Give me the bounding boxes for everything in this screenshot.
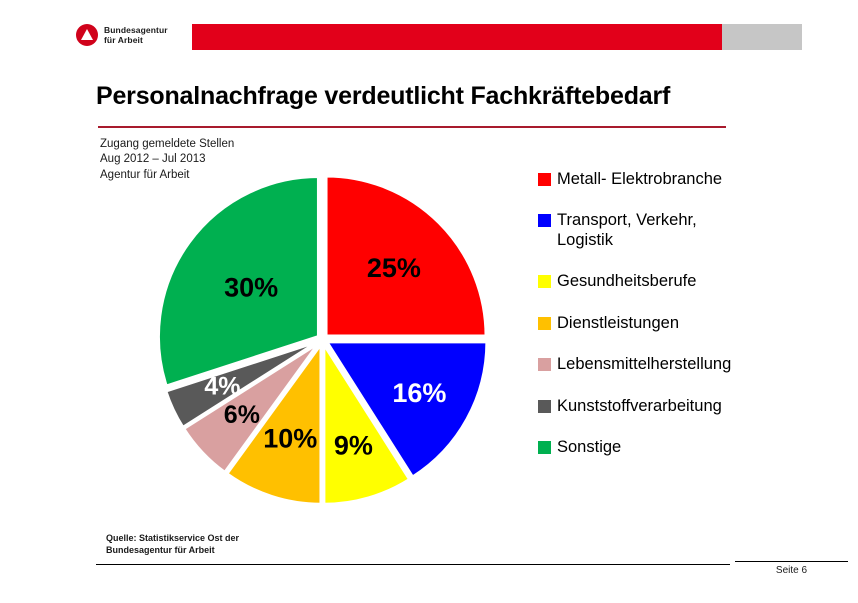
slide: Bundesagentur für Arbeit Personalnachfra… — [0, 0, 858, 603]
legend-item-gesundheitsberufe[interactable]: Gesundheitsberufe — [538, 272, 848, 291]
pie-slice-value-label: 4% — [204, 373, 240, 401]
header-accent-bar-gray — [722, 24, 802, 50]
legend-item-sonstige[interactable]: Sonstige — [538, 438, 848, 457]
legend-item-kunststoffverarbeitung[interactable]: Kunststoffverarbeitung — [538, 397, 848, 416]
pie-slice-value-label: 16% — [392, 378, 446, 408]
legend-item-transport-verkehr-logistik[interactable]: Transport, Verkehr, Logistik — [538, 211, 848, 250]
legend-item-label: Gesundheitsberufe — [557, 272, 696, 291]
legend-item-label: Lebensmittelherstellung — [557, 355, 731, 374]
bundesagentur-fuer-arbeit-logo: Bundesagentur für Arbeit — [76, 24, 168, 46]
legend-swatch-icon — [538, 358, 551, 371]
legend-swatch-icon — [538, 173, 551, 186]
header-accent-bar-red — [192, 24, 722, 50]
legend-swatch-icon — [538, 275, 551, 288]
title-divider — [98, 126, 726, 128]
legend-item-lebensmittelherstellung[interactable]: Lebensmittelherstellung — [538, 355, 848, 374]
logo-text: Bundesagentur für Arbeit — [104, 25, 168, 46]
legend-item-dienstleistungen[interactable]: Dienstleistungen — [538, 314, 848, 333]
slide-header: Bundesagentur für Arbeit — [0, 0, 858, 62]
page-title: Personalnachfrage verdeutlicht Fachkräft… — [96, 82, 670, 111]
pie-slice-value-label: 25% — [367, 253, 421, 283]
pie-slice-value-label: 10% — [263, 424, 317, 454]
pie-slice-value-label: 9% — [334, 431, 373, 461]
ba-triangle-icon — [76, 24, 98, 46]
pie-slice-value-label: 30% — [224, 273, 278, 303]
legend-item-label: Transport, Verkehr, Logistik — [557, 211, 697, 250]
footer-divider-left — [96, 564, 730, 565]
legend-item-label: Dienstleistungen — [557, 314, 679, 333]
legend-item-label: Kunststoffverarbeitung — [557, 397, 722, 416]
legend-swatch-icon — [538, 441, 551, 454]
pie-chart: 25%16%9%10%6%4%30% — [150, 167, 495, 512]
pie-slice-value-label: 6% — [224, 401, 260, 429]
footer-divider-right — [735, 561, 848, 562]
legend-swatch-icon — [538, 317, 551, 330]
legend-item-metall-elektrobranche[interactable]: Metall- Elektrobranche — [538, 170, 848, 189]
chart-legend: Metall- ElektrobrancheTransport, Verkehr… — [538, 170, 848, 480]
legend-swatch-icon — [538, 400, 551, 413]
page-number: Seite 6 — [735, 565, 848, 576]
source-note: Quelle: Statistikservice Ost der Bundesa… — [106, 532, 239, 557]
legend-swatch-icon — [538, 214, 551, 227]
legend-item-label: Metall- Elektrobranche — [557, 170, 722, 189]
legend-item-label: Sonstige — [557, 438, 621, 457]
pie-chart-svg: 25%16%9%10%6%4%30% — [150, 167, 495, 512]
